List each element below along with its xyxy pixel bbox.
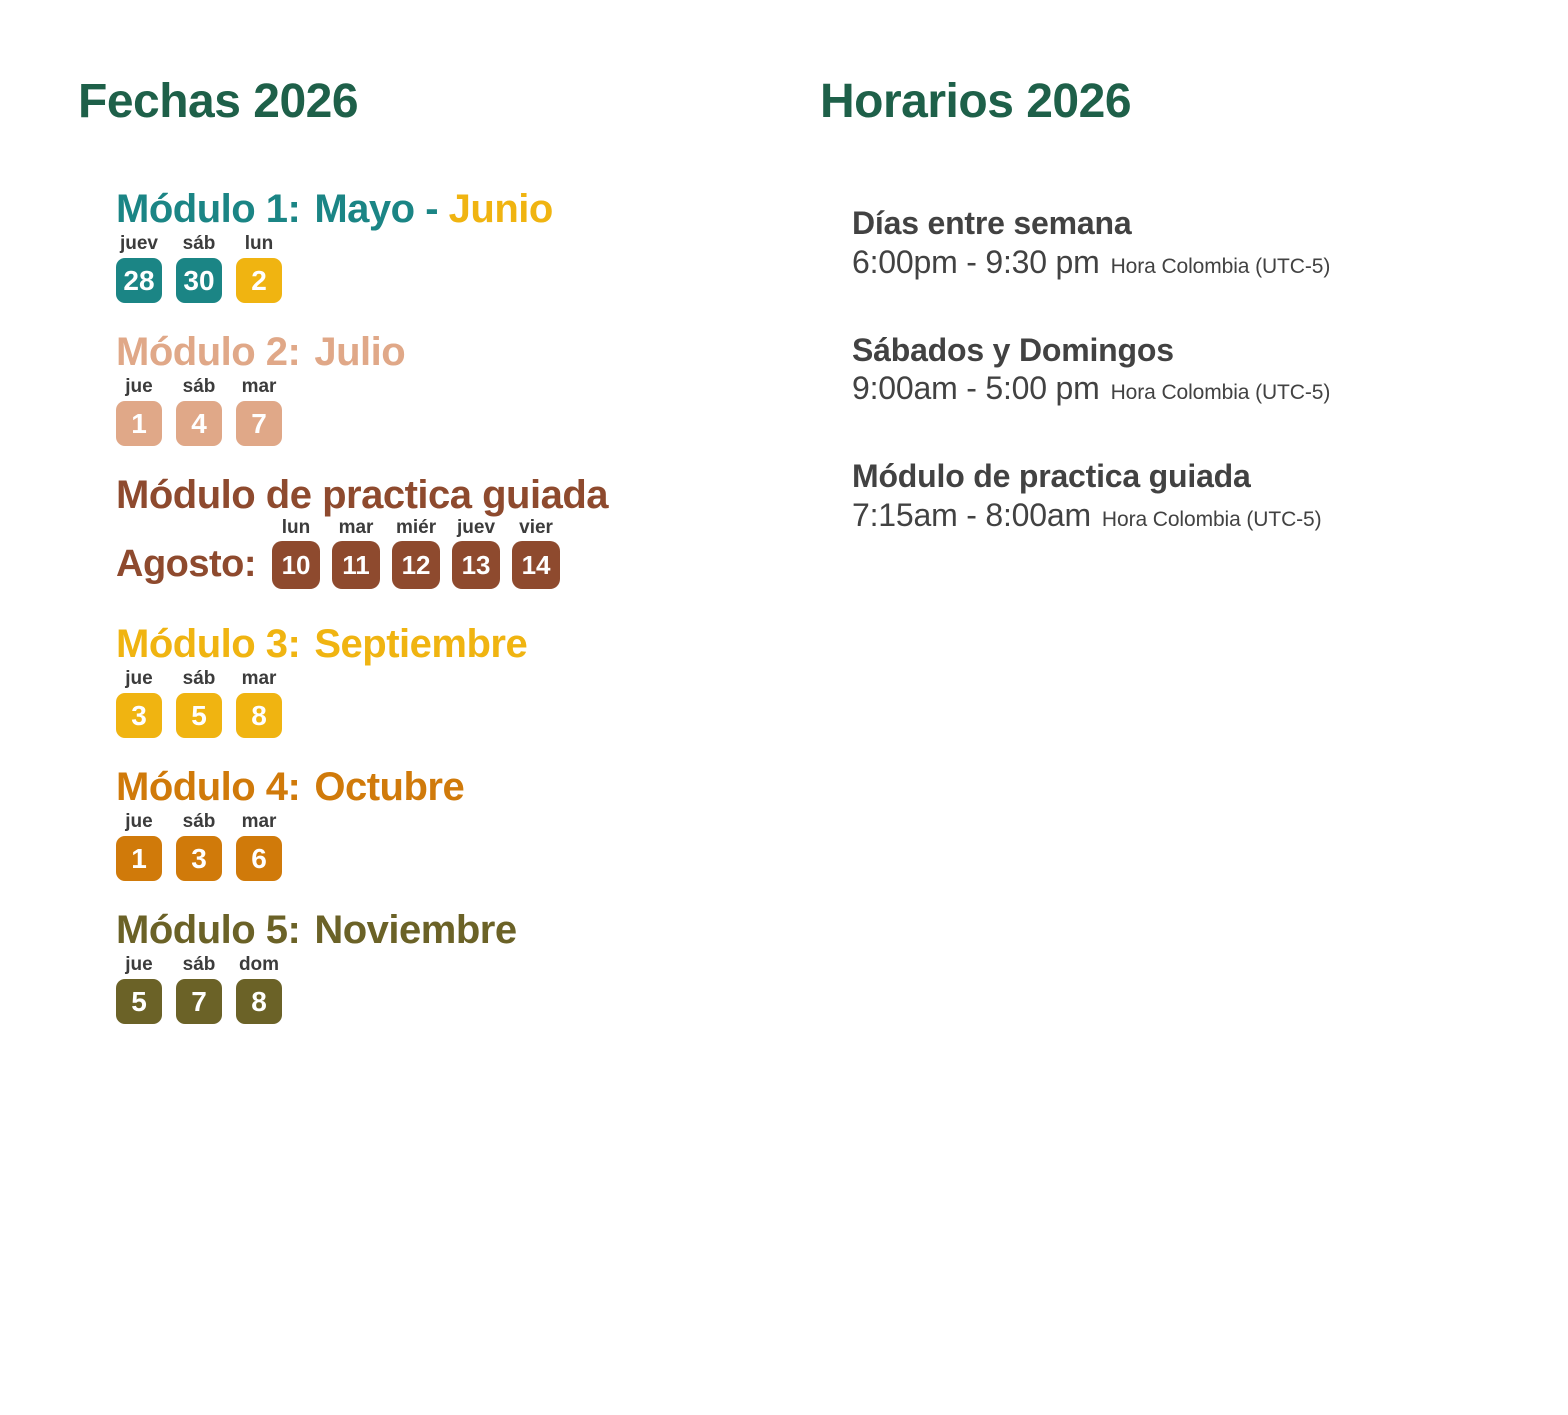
module-block-2: Módulo 2:Julio jue 1 sáb 4 mar 7 xyxy=(116,331,790,446)
module-title-5: Módulo 5:Noviembre xyxy=(116,909,790,951)
day-number-badge: 1 xyxy=(116,401,162,446)
agosto-day-strip: Agosto: lun 10 mar 11 miér 12 juev xyxy=(116,518,790,589)
horarios-title: Horarios 2026 xyxy=(820,78,1568,126)
module-label-5: Módulo 5: xyxy=(116,908,300,952)
module-label-2: Módulo 2: xyxy=(116,330,300,374)
module-title-1: Módulo 1:Mayo - Junio xyxy=(116,188,790,230)
schedule-timezone: Hora Colombia (UTC-5) xyxy=(1111,255,1331,279)
schedule-entry-weekend: Sábados y Domingos 9:00am - 5:00 pm Hora… xyxy=(852,333,1568,408)
day-item: jue 3 xyxy=(116,669,162,738)
module-month-2: Julio xyxy=(314,330,405,374)
day-number-badge: 8 xyxy=(236,693,282,738)
schedule-time: 9:00am - 5:00 pm xyxy=(852,370,1100,407)
day-number-badge: 5 xyxy=(116,979,162,1024)
day-number-badge: 30 xyxy=(176,258,222,303)
day-number-badge: 2 xyxy=(236,258,282,303)
day-number-badge: 11 xyxy=(332,541,380,589)
schedule-timezone: Hora Colombia (UTC-5) xyxy=(1102,508,1322,532)
day-item: sáb 4 xyxy=(176,377,222,446)
module-month-1b: Junio xyxy=(449,187,553,231)
day-number-badge: 28 xyxy=(116,258,162,303)
day-number-badge: 7 xyxy=(176,979,222,1024)
day-item: mar 7 xyxy=(236,377,282,446)
day-item: jue 1 xyxy=(116,377,162,446)
schedule-time-row: 7:15am - 8:00am Hora Colombia (UTC-5) xyxy=(852,497,1568,534)
day-item: miér 12 xyxy=(392,518,440,589)
day-number-badge: 5 xyxy=(176,693,222,738)
day-strip-3: jue 3 sáb 5 mar 8 xyxy=(116,669,790,738)
agosto-month-label: Agosto: xyxy=(116,545,256,589)
schedule-label: Sábados y Domingos xyxy=(852,333,1568,369)
module-month-3: Septiembre xyxy=(314,622,527,666)
module-month-1a: Mayo - xyxy=(314,187,448,231)
day-name: sáb xyxy=(183,812,216,831)
schedule-label: Módulo de practica guiada xyxy=(852,459,1568,495)
day-name: sáb xyxy=(183,669,216,688)
day-strip-1: juev 28 sáb 30 lun 2 xyxy=(116,234,790,303)
day-name: miér xyxy=(396,518,436,537)
module-month-5: Noviembre xyxy=(314,908,516,952)
day-name: mar xyxy=(242,669,277,688)
day-item: juev 28 xyxy=(116,234,162,303)
day-item: mar 8 xyxy=(236,669,282,738)
module-label-1: Módulo 1: xyxy=(116,187,300,231)
day-name: mar xyxy=(242,812,277,831)
day-name: dom xyxy=(239,955,279,974)
day-name: juev xyxy=(457,518,495,537)
module-block-5: Módulo 5:Noviembre jue 5 sáb 7 dom 8 xyxy=(116,909,790,1024)
day-item: sáb 7 xyxy=(176,955,222,1024)
day-strip-4: jue 1 sáb 3 mar 6 xyxy=(116,812,790,881)
day-name: mar xyxy=(339,518,374,537)
day-number-badge: 14 xyxy=(512,541,560,589)
day-number-badge: 1 xyxy=(116,836,162,881)
day-name: jue xyxy=(125,377,152,396)
day-item: mar 6 xyxy=(236,812,282,881)
day-item: sáb 5 xyxy=(176,669,222,738)
practica-guiada-title: Módulo de practica guiada xyxy=(116,474,790,516)
day-number-badge: 12 xyxy=(392,541,440,589)
day-item: mar 11 xyxy=(332,518,380,589)
day-number-badge: 7 xyxy=(236,401,282,446)
day-name: sáb xyxy=(183,955,216,974)
day-name: jue xyxy=(125,812,152,831)
schedule-time: 7:15am - 8:00am xyxy=(852,497,1091,534)
day-item: juev 13 xyxy=(452,518,500,589)
day-name: vier xyxy=(519,518,553,537)
day-number-badge: 3 xyxy=(116,693,162,738)
practica-guiada-block: Módulo de practica guiada Agosto: lun 10… xyxy=(116,474,790,589)
module-label-3: Módulo 3: xyxy=(116,622,300,666)
module-block-3: Módulo 3:Septiembre jue 3 sáb 5 mar 8 xyxy=(116,623,790,738)
module-title-4: Módulo 4:Octubre xyxy=(116,766,790,808)
module-title-3: Módulo 3:Septiembre xyxy=(116,623,790,665)
schedule-label: Días entre semana xyxy=(852,206,1568,242)
day-number-badge: 4 xyxy=(176,401,222,446)
module-label-4: Módulo 4: xyxy=(116,765,300,809)
day-item: jue 1 xyxy=(116,812,162,881)
day-item: dom 8 xyxy=(236,955,282,1024)
day-name: sáb xyxy=(183,377,216,396)
day-item: vier 14 xyxy=(512,518,560,589)
day-strip-2: jue 1 sáb 4 mar 7 xyxy=(116,377,790,446)
day-name: jue xyxy=(125,669,152,688)
modules-list: Módulo 1:Mayo - Junio juev 28 sáb 30 lun… xyxy=(78,188,790,1024)
fechas-title: Fechas 2026 xyxy=(78,78,790,126)
schedule-infographic: Fechas 2026 Módulo 1:Mayo - Junio juev 2… xyxy=(0,0,1568,1415)
day-number-badge: 6 xyxy=(236,836,282,881)
day-name: sáb xyxy=(183,234,216,253)
horarios-column: Horarios 2026 Días entre semana 6:00pm -… xyxy=(790,0,1568,586)
day-name: lun xyxy=(282,518,311,537)
schedules-list: Días entre semana 6:00pm - 9:30 pm Hora … xyxy=(810,188,1568,534)
day-name: juev xyxy=(120,234,158,253)
schedule-time: 6:00pm - 9:30 pm xyxy=(852,244,1100,281)
day-item: sáb 30 xyxy=(176,234,222,303)
module-block-4: Módulo 4:Octubre jue 1 sáb 3 mar 6 xyxy=(116,766,790,881)
schedule-entry-weekdays: Días entre semana 6:00pm - 9:30 pm Hora … xyxy=(852,206,1568,281)
day-item: lun 2 xyxy=(236,234,282,303)
fechas-column: Fechas 2026 Módulo 1:Mayo - Junio juev 2… xyxy=(0,0,790,1052)
day-number-badge: 13 xyxy=(452,541,500,589)
schedule-time-row: 6:00pm - 9:30 pm Hora Colombia (UTC-5) xyxy=(852,244,1568,281)
day-item: jue 5 xyxy=(116,955,162,1024)
day-number-badge: 3 xyxy=(176,836,222,881)
schedule-timezone: Hora Colombia (UTC-5) xyxy=(1111,381,1331,405)
module-block-1: Módulo 1:Mayo - Junio juev 28 sáb 30 lun… xyxy=(116,188,790,303)
day-number-badge: 10 xyxy=(272,541,320,589)
schedule-time-row: 9:00am - 5:00 pm Hora Colombia (UTC-5) xyxy=(852,370,1568,407)
day-name: mar xyxy=(242,377,277,396)
day-number-badge: 8 xyxy=(236,979,282,1024)
day-item: sáb 3 xyxy=(176,812,222,881)
day-name: lun xyxy=(245,234,274,253)
day-name: jue xyxy=(125,955,152,974)
schedule-entry-practica: Módulo de practica guiada 7:15am - 8:00a… xyxy=(852,459,1568,534)
day-strip-5: jue 5 sáb 7 dom 8 xyxy=(116,955,790,1024)
module-month-4: Octubre xyxy=(314,765,464,809)
module-title-2: Módulo 2:Julio xyxy=(116,331,790,373)
day-item: lun 10 xyxy=(272,518,320,589)
